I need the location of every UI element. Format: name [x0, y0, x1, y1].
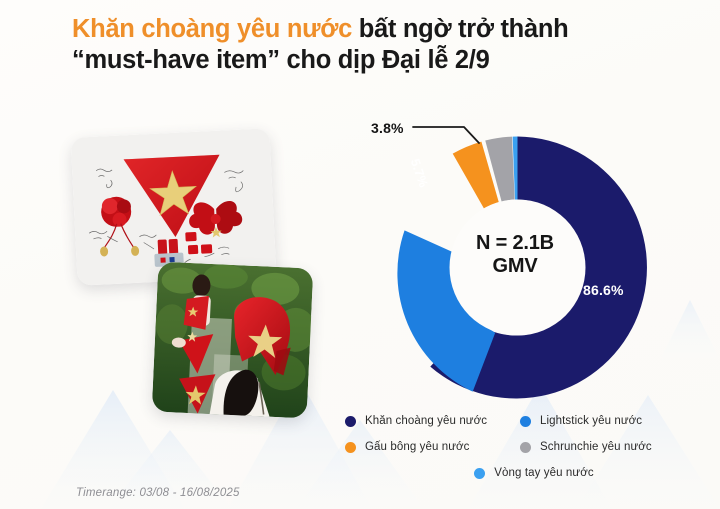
legend-row-3: Vòng tay yêu nước [345, 467, 705, 479]
legend-item-vong-tay[interactable]: Vòng tay yêu nước [474, 467, 593, 479]
timerange-label: Timerange: 03/08 - 16/08/2025 [76, 487, 240, 499]
legend-row-1: Khăn choàng yêu nước Lightstick yêu nước [345, 415, 705, 427]
headline-line-2: “must-have item” cho dịp Đại lễ 2/9 [72, 45, 642, 76]
legend-row-2: Gấu bông yêu nước Schrunchie yêu nước [345, 441, 705, 453]
legend-label: Schrunchie yêu nước [540, 441, 652, 453]
lifestyle-photo [152, 262, 314, 419]
legend-dot-icon [520, 442, 531, 453]
legend-label: Khăn choàng yêu nước [365, 415, 487, 427]
headline-block: Khăn choàng yêu nước bất ngờ trở thành “… [72, 14, 642, 76]
legend-dot-icon [474, 468, 485, 479]
center-total-value: N = 2.1B [447, 232, 583, 255]
headline-line-1-rest: bất ngờ trở thành [352, 15, 568, 43]
legend-item-khan-choang[interactable]: Khăn choàng yêu nước [345, 415, 520, 427]
legend-label: Vòng tay yêu nước [494, 467, 593, 479]
headline-highlight: Khăn choàng yêu nước [72, 15, 352, 43]
legend-dot-icon [520, 416, 531, 427]
legend-item-schrunchie[interactable]: Schrunchie yêu nước [520, 441, 695, 453]
infographic-canvas: Khăn choàng yêu nước bất ngờ trở thành “… [0, 0, 720, 509]
chart-legend: Khăn choàng yêu nước Lightstick yêu nước… [345, 415, 705, 493]
legend-label: Lightstick yêu nước [540, 415, 642, 427]
legend-dot-icon [345, 416, 356, 427]
legend-item-lightstick[interactable]: Lightstick yêu nước [520, 415, 695, 427]
donut-center-label: N = 2.1B GMV [447, 232, 583, 278]
headline-line-1: Khăn choàng yêu nước bất ngờ trở thành [72, 14, 642, 45]
callout-pct-gau-bong: 3.8% [371, 120, 404, 136]
lifestyle-image [152, 262, 314, 419]
legend-label: Gấu bông yêu nước [365, 441, 470, 453]
legend-item-gau-bong[interactable]: Gấu bông yêu nước [345, 441, 520, 453]
legend-dot-icon [345, 442, 356, 453]
callout-pct-khan-choang: 86.6% [583, 282, 624, 298]
center-total-unit: GMV [447, 255, 583, 278]
